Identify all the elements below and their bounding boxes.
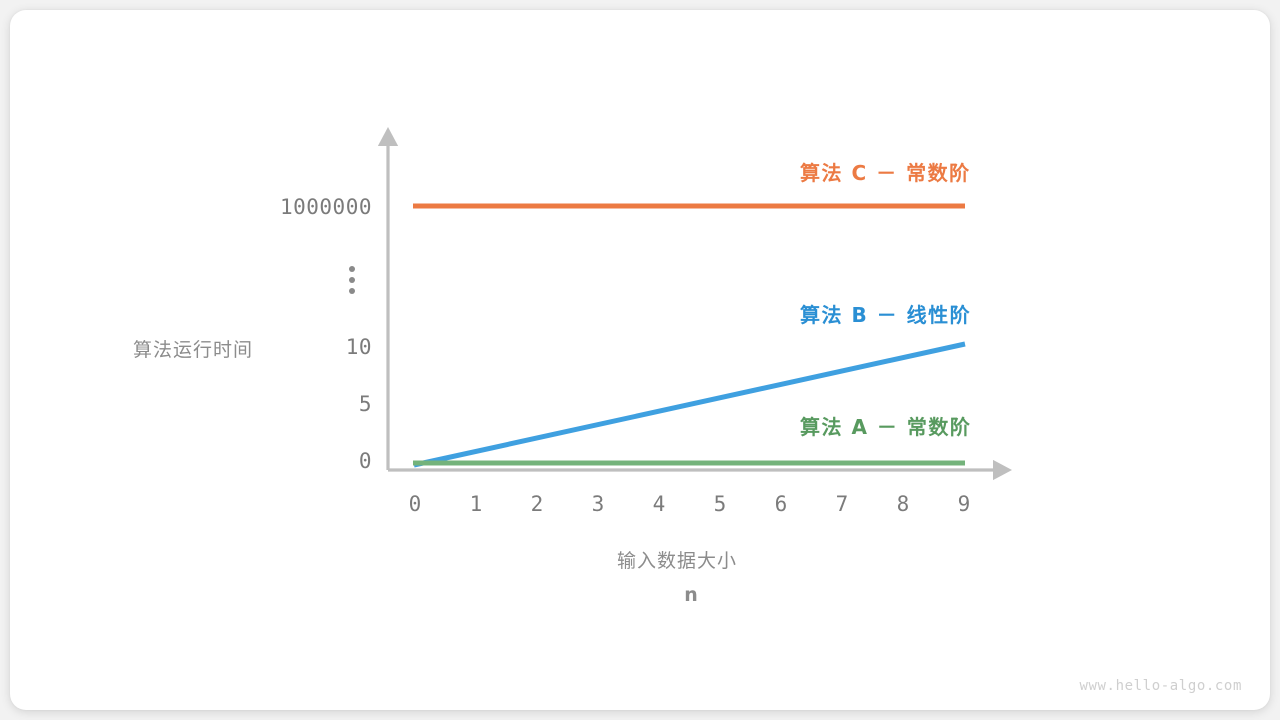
- legend-series-a: 算法 A － 常数阶: [800, 411, 971, 440]
- x-tick-label-2: 2: [522, 492, 552, 516]
- x-axis-title: 输入数据大小: [617, 546, 737, 573]
- y-tick-ellipsis-icon: [349, 266, 355, 294]
- x-tick-label-0: 0: [400, 492, 430, 516]
- x-tick-label-4: 4: [644, 492, 674, 516]
- legend-series-c: 算法 C － 常数阶: [800, 157, 971, 186]
- y-tick-label-1000000: 1000000: [280, 195, 372, 219]
- y-tick-label-10: 10: [346, 335, 372, 359]
- x-tick-label-5: 5: [705, 492, 735, 516]
- x-tick-label-7: 7: [827, 492, 857, 516]
- y-tick-label-0: 0: [359, 449, 372, 473]
- y-axis-title: 算法运行时间: [133, 335, 253, 362]
- x-tick-label-6: 6: [766, 492, 796, 516]
- y-tick-label-5: 5: [359, 392, 372, 416]
- legend-series-b: 算法 B － 线性阶: [800, 299, 971, 328]
- series-line-b: [414, 344, 965, 465]
- x-tick-label-8: 8: [888, 492, 918, 516]
- x-axis-title-variable: n: [617, 584, 765, 606]
- figure-stage: 1000000 10 5 0 0 1 2 3 4 5 6 7 8 9 算法运行时…: [0, 0, 1280, 720]
- x-tick-label-3: 3: [583, 492, 613, 516]
- x-tick-label-9: 9: [949, 492, 979, 516]
- watermark: www.hello-algo.com: [1079, 678, 1242, 694]
- x-tick-label-1: 1: [461, 492, 491, 516]
